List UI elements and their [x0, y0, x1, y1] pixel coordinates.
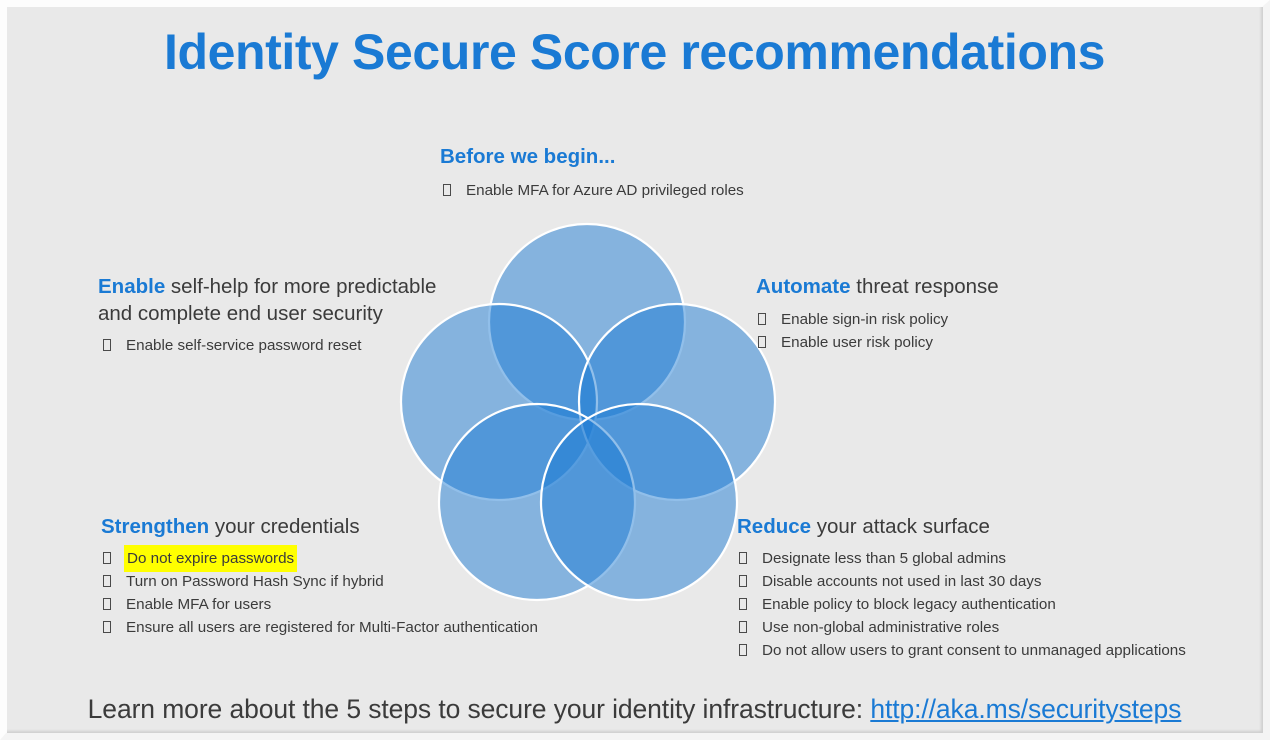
section-heading: Enable self-help for more predictable an… [98, 274, 468, 327]
bullet-box-icon [739, 598, 747, 610]
list-item[interactable]: Enable MFA for users [103, 593, 538, 616]
bullet-list: Enable MFA for Azure AD privileged roles [440, 179, 744, 202]
list-item-label: Enable sign-in risk policy [781, 308, 948, 331]
list-item[interactable]: Turn on Password Hash Sync if hybrid [103, 570, 538, 593]
list-item[interactable]: Use non-global administrative roles [739, 616, 1186, 639]
list-item-label: Do not allow users to grant consent to u… [762, 639, 1186, 662]
bullet-box-icon [758, 336, 766, 348]
list-item-label: Turn on Password Hash Sync if hybrid [126, 570, 384, 593]
bullet-box-icon [739, 575, 747, 587]
bullet-list: Enable self-service password reset [98, 334, 468, 357]
bullet-box-icon [443, 184, 451, 196]
list-item[interactable]: Enable sign-in risk policy [758, 308, 999, 331]
section-heading-rest: your credentials [209, 515, 359, 538]
list-item[interactable]: Enable user risk policy [758, 331, 999, 354]
bullet-list: Designate less than 5 global admins Disa… [737, 547, 1186, 662]
page-title: Identity Secure Score recommendations [6, 24, 1263, 82]
section-strengthen: Strengthen your credentials Do not expir… [101, 514, 538, 639]
venn-circle-bottom-right [541, 404, 737, 600]
list-item-label: Enable self-service password reset [126, 334, 362, 357]
footer-text: Learn more about the 5 steps to secure y… [6, 694, 1263, 725]
list-item-label: Disable accounts not used in last 30 day… [762, 570, 1041, 593]
list-item-label: Enable MFA for users [126, 593, 271, 616]
bullet-box-icon [758, 313, 766, 325]
list-item-label: Ensure all users are registered for Mult… [126, 616, 538, 639]
section-heading-rest: threat response [851, 275, 999, 298]
list-item[interactable]: Enable policy to block legacy authentica… [739, 593, 1186, 616]
list-item-label: Enable user risk policy [781, 331, 933, 354]
slide-canvas: Identity Secure Score recommendations Be… [0, 0, 1270, 740]
list-item[interactable]: Disable accounts not used in last 30 day… [739, 570, 1186, 593]
section-heading-keyword: Before we begin... [440, 145, 615, 168]
bullet-box-icon [739, 552, 747, 564]
list-item-label: Designate less than 5 global admins [762, 547, 1006, 570]
section-heading-keyword: Enable [98, 275, 165, 298]
section-enable: Enable self-help for more predictable an… [98, 274, 468, 357]
list-item-label-highlighted: Do not expire passwords [126, 547, 295, 570]
bullet-list: Do not expire passwords Turn on Password… [101, 547, 538, 639]
bullet-box-icon [103, 575, 111, 587]
section-heading-rest: your attack surface [811, 515, 990, 538]
list-item-label: Enable policy to block legacy authentica… [762, 593, 1056, 616]
section-heading: Before we begin... [440, 144, 744, 171]
list-item-label: Enable MFA for Azure AD privileged roles [466, 179, 744, 202]
section-heading: Strengthen your credentials [101, 514, 538, 541]
section-heading: Automate threat response [756, 274, 999, 301]
footer-label: Learn more about the 5 steps to secure y… [88, 694, 871, 724]
bullet-box-icon [103, 598, 111, 610]
list-item-label: Use non-global administrative roles [762, 616, 999, 639]
bullet-box-icon [103, 552, 111, 564]
list-item[interactable]: Enable self-service password reset [103, 334, 468, 357]
list-item[interactable]: Ensure all users are registered for Mult… [103, 616, 538, 639]
bullet-box-icon [739, 621, 747, 633]
bullet-box-icon [103, 621, 111, 633]
section-heading-keyword: Automate [756, 275, 851, 298]
section-before-we-begin: Before we begin... Enable MFA for Azure … [440, 144, 744, 202]
bullet-box-icon [739, 644, 747, 656]
section-heading-keyword: Reduce [737, 515, 811, 538]
list-item[interactable]: Do not allow users to grant consent to u… [739, 639, 1186, 662]
section-automate: Automate threat response Enable sign-in … [756, 274, 999, 354]
bullet-list: Enable sign-in risk policy Enable user r… [756, 308, 999, 354]
list-item[interactable]: Do not expire passwords [103, 547, 538, 570]
section-reduce: Reduce your attack surface Designate les… [737, 514, 1186, 662]
list-item[interactable]: Designate less than 5 global admins [739, 547, 1186, 570]
footer-link[interactable]: http://aka.ms/securitysteps [870, 694, 1181, 724]
bullet-box-icon [103, 339, 111, 351]
section-heading: Reduce your attack surface [737, 514, 1186, 541]
list-item[interactable]: Enable MFA for Azure AD privileged roles [440, 179, 744, 202]
section-heading-keyword: Strengthen [101, 515, 209, 538]
